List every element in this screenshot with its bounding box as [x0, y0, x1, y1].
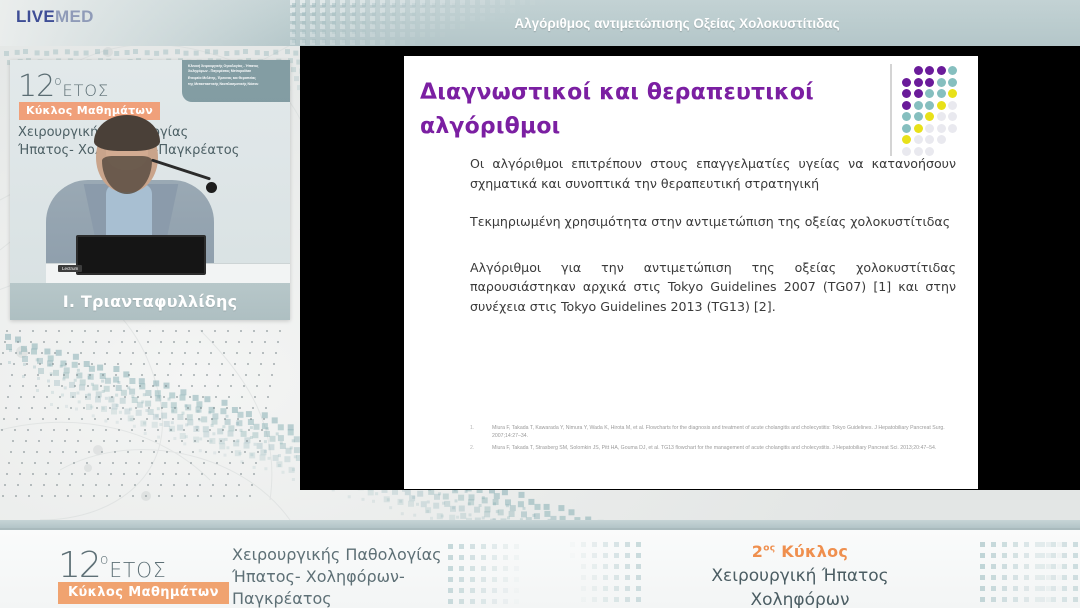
slide-paragraph-2: Τεκμηριωμένη χρησιμότητα στην αντιμετώπι… — [470, 212, 956, 232]
footer-subtitle: Χειρουργικής Παθολογίας Ήπατος- Χοληφόρω… — [232, 544, 502, 608]
presentation-slide[interactable]: Διαγνωστικοί και θεραπευτικοί αλγόριθμοι… — [404, 56, 978, 489]
logo-dot — [937, 89, 946, 98]
backdrop-year: 12οΕΤΟΣ — [18, 66, 109, 106]
footer-badge: Κύκλος Μαθημάτων — [58, 582, 229, 604]
reference-item: 2. Miura F, Takada T, Strasberg SM, Solo… — [470, 444, 956, 452]
logo-med-text: MED — [55, 7, 94, 26]
app-root: Αλγόριθμος αντιμετώπισης Οξείας Χολοκυστ… — [0, 0, 1080, 608]
reference-text: Miura F, Takada T, Kawarada Y, Nimura Y,… — [492, 424, 956, 440]
logo-dot — [925, 78, 934, 87]
logo-dot — [948, 66, 957, 75]
logo-dot — [937, 135, 946, 144]
laptop — [76, 235, 206, 275]
logo-dot — [902, 89, 911, 98]
footer-bar: 12οΕΤΟΣ Κύκλος Μαθημάτων Χειρουργικής Πα… — [0, 528, 1080, 608]
logo-dot — [948, 112, 957, 121]
logo-dot — [937, 124, 946, 133]
backdrop-org-chip: Κλινική Χειρουργικής Ογκολογίας - Ήπατος… — [182, 60, 290, 102]
logo-dot — [902, 101, 911, 110]
logo-dot — [902, 78, 911, 87]
logo-dot — [925, 135, 934, 144]
logo-dot — [948, 124, 957, 133]
logo-dot — [914, 66, 923, 75]
logo-dot — [948, 89, 957, 98]
logo-dot — [914, 112, 923, 121]
logo-dot — [937, 78, 946, 87]
logo-dot — [902, 112, 911, 121]
slide-paragraph-1: Οι αλγόριθμοι επιτρέπουν στους επαγγελμα… — [470, 154, 956, 193]
logo-dot — [914, 135, 923, 144]
reference-item: 1. Miura F, Takada T, Kawarada Y, Nimura… — [470, 424, 956, 440]
speaker-video-panel[interactable]: Κλινική Χειρουργικής Ογκολογίας - Ήπατος… — [10, 60, 290, 320]
logo-dot — [902, 124, 911, 133]
footer-cycle-label: 2ος Κύκλος — [620, 542, 980, 561]
footer-cycle-block: 2ος Κύκλος Χειρουργική Ήπατος Χοληφόρων — [620, 542, 980, 608]
lectern-label: Lectrum — [58, 265, 82, 272]
logo-dot — [925, 124, 934, 133]
slide-body-text: Οι αλγόριθμοι επιτρέπουν στους επαγγελμα… — [470, 154, 956, 316]
backdrop-org-text: Κλινική Χειρουργικής Ογκολογίας - Ήπατος… — [188, 64, 286, 87]
footer-cycle-title: Χειρουργική Ήπατος Χοληφόρων — [620, 564, 980, 608]
logo-dot — [902, 135, 911, 144]
logo-dot — [925, 66, 934, 75]
logo-dot — [948, 101, 957, 110]
logo-dot — [925, 89, 934, 98]
top-header-bar: Αλγόριθμος αντιμετώπισης Οξείας Χολοκυστ… — [0, 0, 1080, 46]
logo-dot — [914, 124, 923, 133]
reference-text: Miura F, Takada T, Strasberg SM, Solomki… — [492, 444, 956, 452]
reference-number: 1. — [470, 424, 492, 440]
logo-dot — [948, 78, 957, 87]
microphone-head — [206, 182, 217, 193]
slide-paragraph-3: Αλγόριθμοι για την αντιμετώπιση της οξεί… — [470, 258, 956, 317]
logo-dot — [925, 112, 934, 121]
logo-dot — [914, 78, 923, 87]
livemed-logo[interactable]: LIVEMED — [16, 8, 94, 26]
logo-dot — [914, 101, 923, 110]
slide-references: 1. Miura F, Takada T, Kawarada Y, Nimura… — [470, 424, 956, 456]
logo-dot — [925, 101, 934, 110]
reference-number: 2. — [470, 444, 492, 452]
page-title: Αλγόριθμος αντιμετώπισης Οξείας Χολοκυστ… — [300, 0, 1080, 46]
speaker-hair — [94, 115, 160, 151]
logo-dot — [914, 89, 923, 98]
logo-dot — [937, 66, 946, 75]
speaker-name: Ι. Τριανταφυλλίδης — [63, 292, 238, 311]
logo-live-text: LIVE — [16, 7, 55, 26]
logo-dot — [937, 112, 946, 121]
slide-title: Διαγνωστικοί και θεραπευτικοί αλγόριθμοι — [420, 76, 900, 144]
microphone-stand — [151, 158, 211, 180]
speaker-name-bar: Ι. Τριανταφυλλίδης — [10, 283, 290, 320]
logo-dot — [937, 101, 946, 110]
speaker-video-frame[interactable]: Κλινική Χειρουργικής Ογκολογίας - Ήπατος… — [10, 60, 290, 283]
slide-dotgrid-logo — [898, 62, 966, 160]
